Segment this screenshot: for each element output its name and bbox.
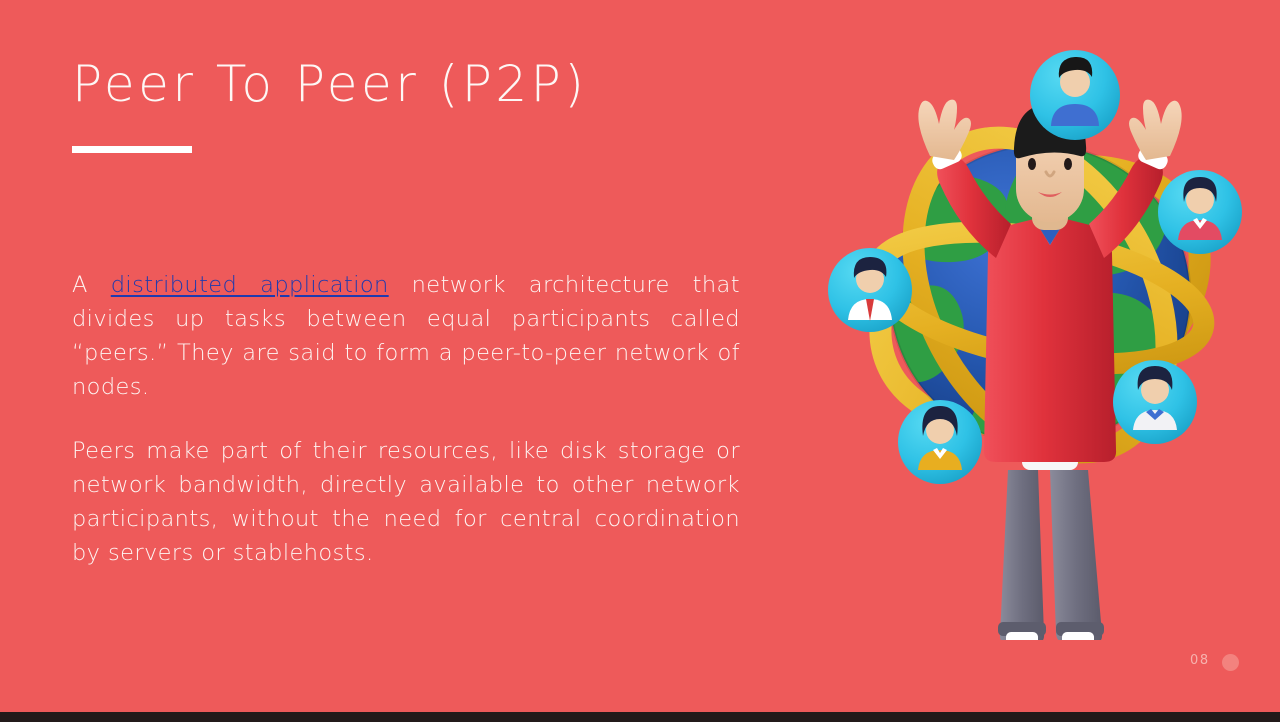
body-paragraph-2: Peers make part of their resources, like… — [72, 434, 740, 570]
character-right-eye — [1064, 158, 1072, 170]
paragraph-1-lead: A — [72, 272, 111, 298]
paragraph-2-last-line: hosts. — [304, 540, 374, 566]
character-left-eye — [1028, 158, 1036, 170]
page-number: 08 — [1190, 653, 1210, 668]
avatar-bottom-right — [1113, 360, 1197, 444]
avatar-right — [1158, 170, 1242, 254]
peer-to-peer-globe-illustration — [810, 40, 1270, 640]
body-paragraph-1: A distributed application network archit… — [72, 268, 740, 404]
character-left-leg — [1000, 470, 1044, 640]
page-title: Peer To Peer (P2P) — [72, 55, 587, 113]
slide-canvas: Peer To Peer (P2P) A distributed applica… — [0, 0, 1280, 712]
title-underline-rule — [72, 146, 192, 153]
character-jacket — [984, 219, 1116, 462]
page-indicator-dot — [1222, 654, 1239, 671]
character-right-leg — [1050, 470, 1102, 640]
letterbox-bottom-bar — [0, 712, 1280, 722]
distributed-application-link[interactable]: distributed application — [111, 272, 389, 298]
avatar-top — [1030, 50, 1120, 140]
avatar-bottom-left — [898, 400, 982, 484]
avatar-left — [828, 248, 912, 332]
paragraph-2-text: Peers make part of their resources, like… — [72, 438, 740, 566]
